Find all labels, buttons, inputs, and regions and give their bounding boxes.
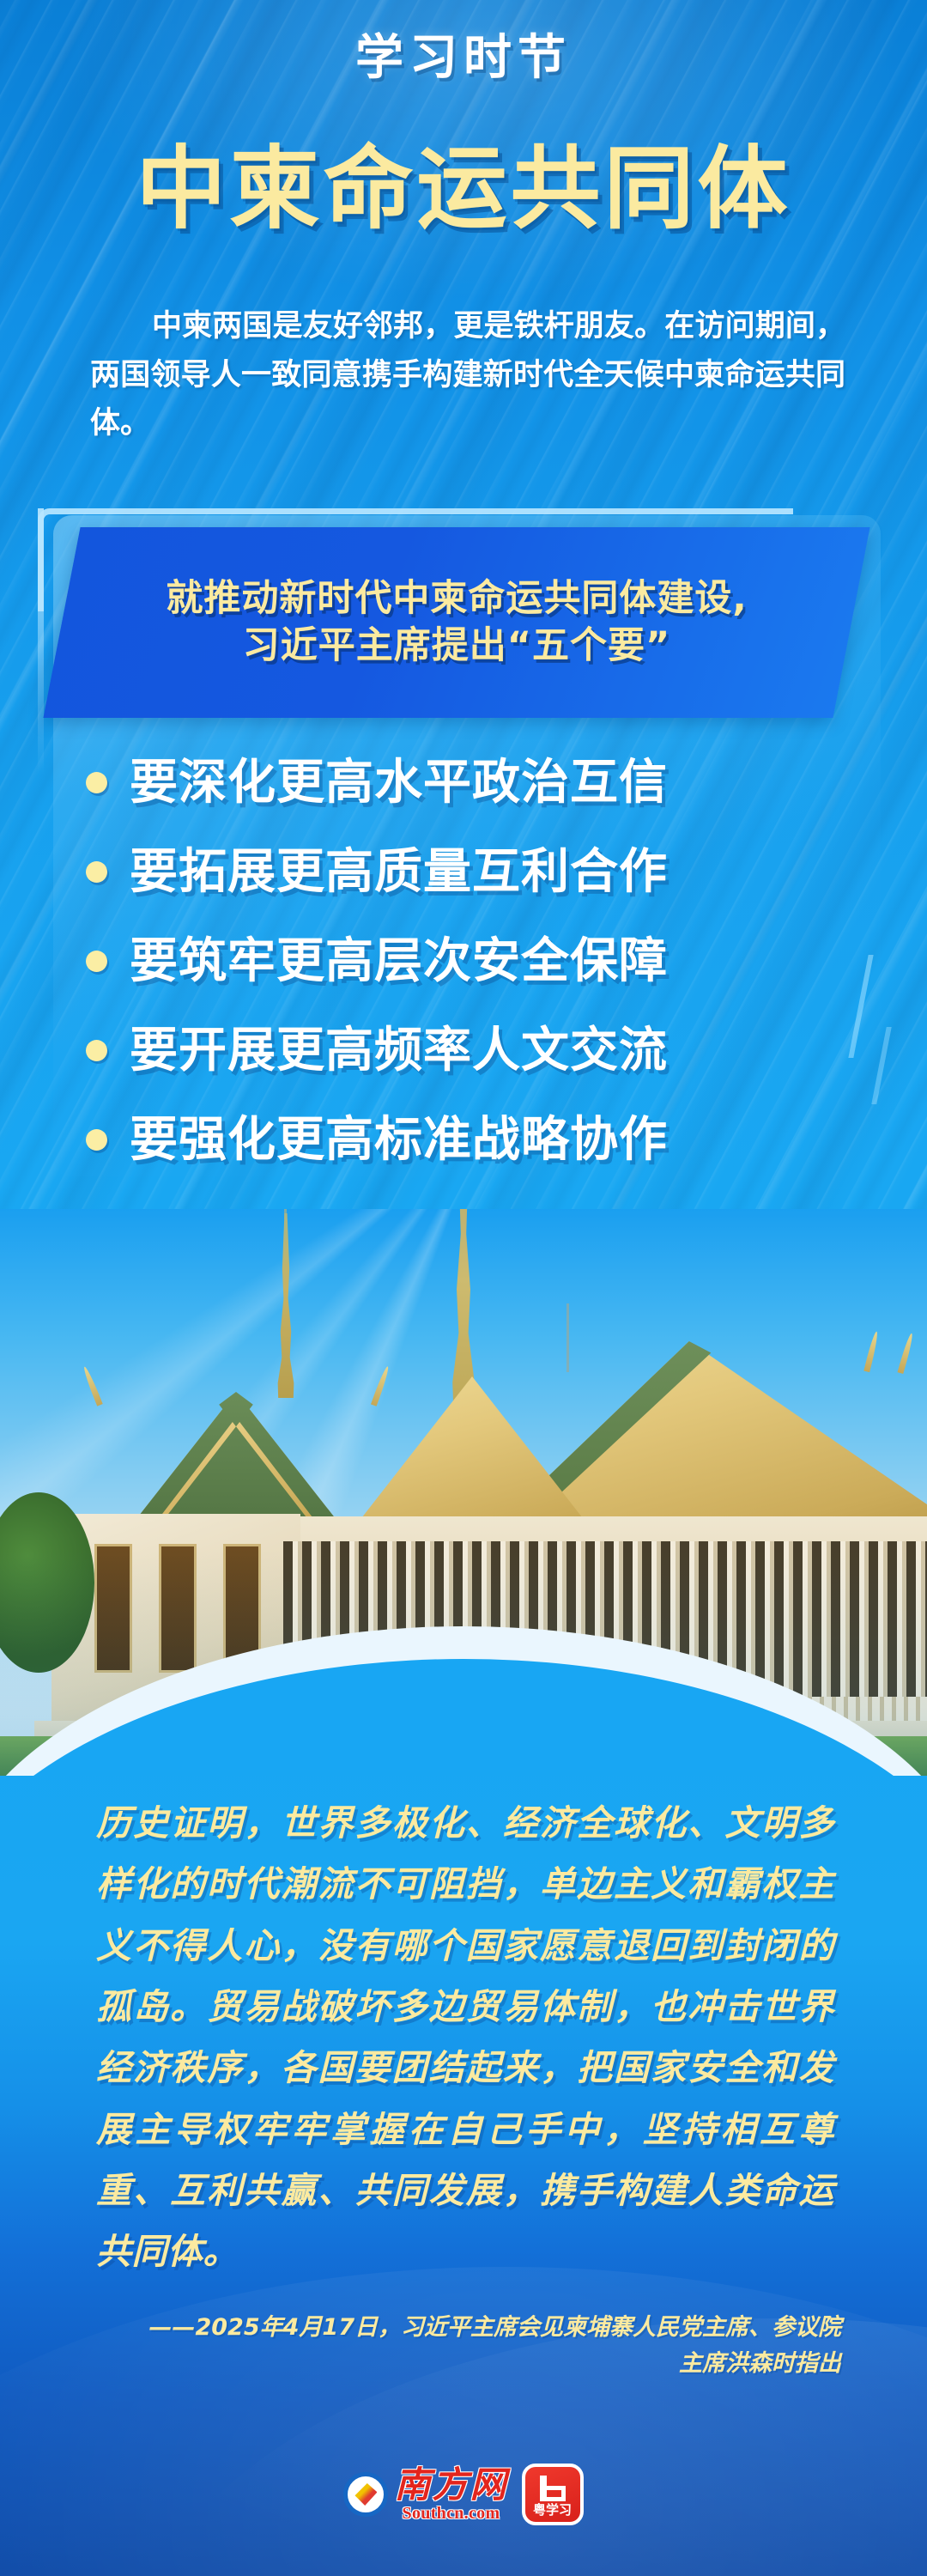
- list-item-label: 要开展更高频率人文交流: [130, 1027, 668, 1075]
- footer-logos: 南方网 Southcn.com 粤学习: [0, 2451, 927, 2537]
- bullet-dot-icon: [86, 861, 107, 883]
- intro-paragraph: 中柬两国是友好邻邦，更是铁杆朋友。在访问期间，两国领导人一致同意携手构建新时代全…: [90, 302, 845, 448]
- bullet-dot-icon: [86, 951, 107, 972]
- panel-heading-line-2: 习近平主席提出“五个要”: [243, 623, 671, 670]
- yuexuexi-logo[interactable]: 粤学习: [522, 2464, 584, 2525]
- panel-heading: 就推动新时代中柬命运共同体建设, 习近平主席提出“五个要”: [62, 527, 851, 718]
- bullet-dot-icon: [86, 1040, 107, 1061]
- southcn-logo-cn: 南方网: [394, 2467, 507, 2503]
- list-item-label: 要拓展更高质量互利合作: [130, 848, 668, 896]
- bullet-dot-icon: [86, 1129, 107, 1151]
- brand-logo: 学习时节: [0, 19, 927, 88]
- page-title-text: 中柬命运共同体: [136, 144, 791, 234]
- list-item-label: 要筑牢更高层次安全保障: [130, 938, 668, 986]
- poster-root: 学习时节 中柬命运共同体 中柬两国是友好邻邦，更是铁杆朋友。在访问期间，两国领导…: [0, 0, 927, 2576]
- list-item: 要筑牢更高层次安全保障: [86, 920, 893, 1002]
- list-item: 要拓展更高质量互利合作: [86, 831, 893, 913]
- list-item-label: 要深化更高水平政治互信: [130, 759, 668, 807]
- five-points-panel: 就推动新时代中柬命运共同体建设, 习近平主席提出“五个要” 要深化更高水平政治互…: [38, 508, 900, 1187]
- bullet-dot-icon: [86, 772, 107, 793]
- quote-attribution: ——2025年4月17日，习近平主席会见柬埔寨人民党主席、参议院主席洪森时指出: [129, 2310, 841, 2382]
- southcn-mark-icon: [343, 2472, 388, 2517]
- panel-bracket-left-stroke: [38, 508, 44, 775]
- points-list: 要深化更高水平政治互信 要拓展更高质量互利合作 要筑牢更高层次安全保障 要开展更…: [86, 742, 893, 1188]
- brand-logo-text: 学习时节: [355, 19, 572, 88]
- southcn-logo[interactable]: 南方网 Southcn.com: [343, 2467, 507, 2522]
- page-title: 中柬命运共同体: [0, 144, 927, 234]
- list-item: 要强化更高标准战略协作: [86, 1099, 893, 1181]
- southcn-logo-en: Southcn.com: [403, 2505, 500, 2522]
- list-item-label: 要强化更高标准战略协作: [130, 1116, 668, 1164]
- southcn-wordmark: 南方网 Southcn.com: [394, 2467, 507, 2522]
- panel-heading-line-1: 就推动新时代中柬命运共同体建设,: [166, 575, 747, 623]
- quote-text: 历史证明，世界多极化、经济全球化、文明多样化的时代潮流不可阻挡，单边主义和霸权主…: [96, 1793, 834, 2283]
- list-item: 要深化更高水平政治互信: [86, 742, 893, 823]
- yuexuexi-book-icon: [540, 2476, 566, 2501]
- list-item: 要开展更高频率人文交流: [86, 1010, 893, 1091]
- palace-photo: [0, 1209, 927, 1776]
- yuexuexi-label: 粤学习: [533, 2504, 572, 2517]
